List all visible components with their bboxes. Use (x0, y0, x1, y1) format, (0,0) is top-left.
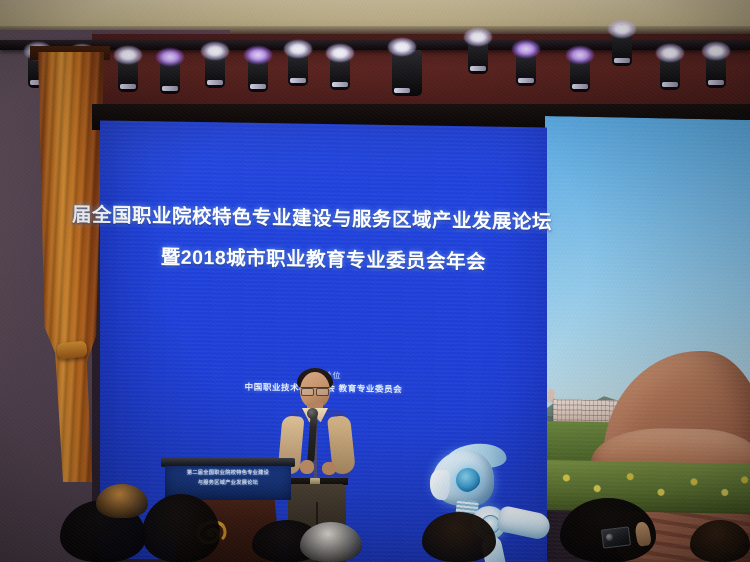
podium-line-1: 第二届全国职业院校特色专业建设 (165, 469, 291, 479)
lamp-lens (120, 84, 136, 89)
glasses-icon (301, 387, 329, 394)
lamp-glow (464, 28, 492, 46)
lamp-glow (608, 20, 636, 38)
lamp-glow (201, 42, 229, 60)
conference-stage-photo: 届全国职业院校特色专业建设与服务区域产业发展论坛 暨2018城市职业教育专业委员… (0, 0, 750, 562)
microphone-head (307, 408, 318, 419)
lamp-glow (244, 46, 272, 64)
podium-line-2: 与服务区域产业发展论坛 (165, 479, 291, 489)
audience-head-5 (300, 522, 362, 562)
lamp-glow (114, 46, 142, 64)
robot-arm (496, 505, 552, 541)
lamp-lens (518, 78, 534, 83)
podium-text-block: 第二届全国职业院校特色专业建设 与服务区域产业发展论坛 (165, 469, 291, 489)
right-led-screen (545, 116, 750, 562)
lamp-glow (326, 44, 354, 62)
lighting-truss (0, 40, 750, 50)
flower-bed (545, 460, 750, 514)
audience-head-3 (96, 484, 148, 518)
lamp-lens (708, 80, 724, 85)
audience-phone (601, 526, 631, 548)
lamp-lens (614, 58, 630, 63)
speaker-left-hand (300, 460, 314, 474)
lamp-lens (207, 80, 223, 85)
lamp-lens (662, 82, 678, 87)
lamp-glow (284, 40, 312, 58)
lamp-glow (702, 42, 730, 60)
lamp-glow (156, 48, 184, 66)
curtain-tieback (56, 340, 88, 359)
lamp-lens (394, 88, 410, 93)
audience-head-8 (690, 520, 750, 562)
lamp-lens (470, 66, 486, 71)
slide-title-line-2: 暨2018城市职业教育专业委员会年会 (100, 239, 547, 275)
lamp-glow (566, 46, 594, 64)
lamp-lens (332, 82, 348, 87)
robot-face (430, 470, 450, 500)
lamp-glow (388, 38, 416, 56)
lamp-glow (656, 44, 684, 62)
phone-camera-lens (606, 533, 614, 541)
lamp-glow (512, 40, 540, 58)
lamp-lens (250, 84, 266, 89)
slide-title-line-1: 届全国职业院校特色专业建设与服务区域产业发展论坛 (72, 198, 519, 234)
lamp-body (392, 50, 422, 96)
robot-ear-disc (456, 468, 480, 492)
lamp-lens (162, 86, 178, 91)
speaker-right-hand (322, 462, 336, 475)
lamp-lens (572, 84, 588, 89)
lamp-lens (290, 78, 306, 83)
